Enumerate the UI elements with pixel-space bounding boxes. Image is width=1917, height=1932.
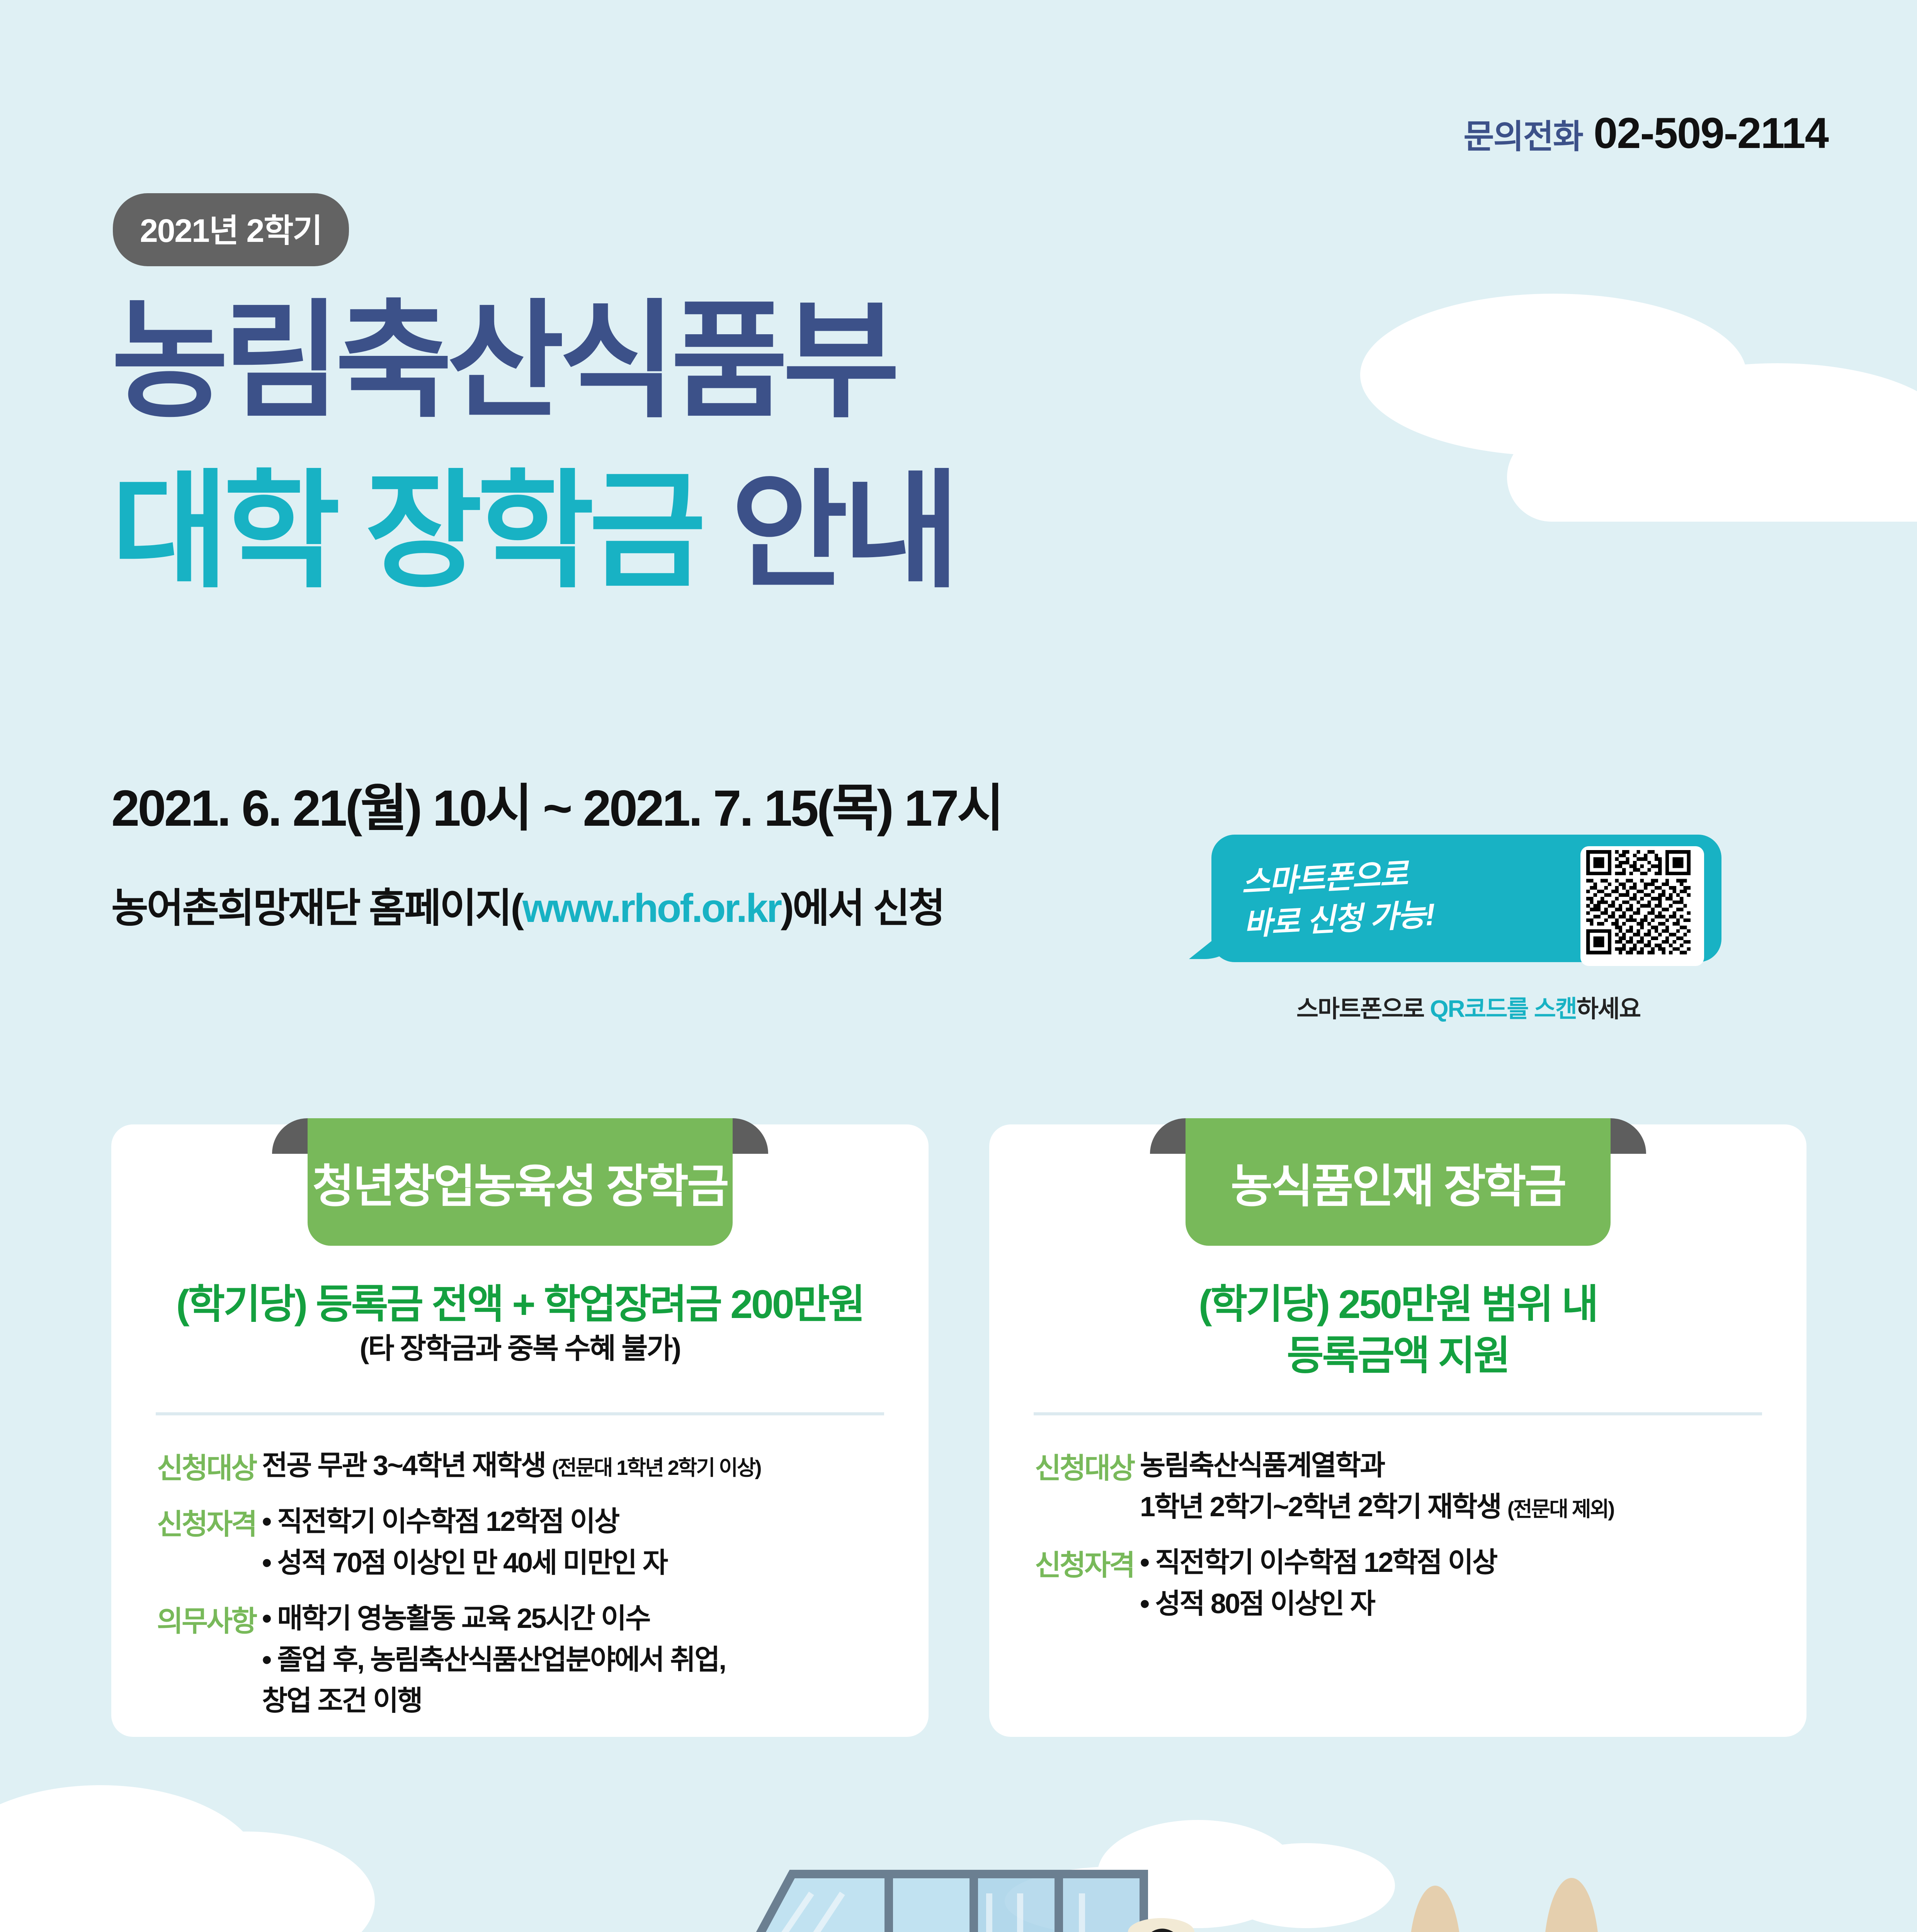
card-ribbon: 농식품인재 장학금 — [1186, 1118, 1611, 1246]
page-title-highlight: 대학 장학금 — [111, 460, 701, 602]
application-period: 2021. 6. 21(월) 10시 ~ 2021. 7. 15(목) 17시 — [111, 767, 1002, 841]
card-title: 청년창업농육성 장학금 — [312, 1149, 727, 1215]
detail-line: • 성적 70점 이상인 만 40세 미만인 자 — [262, 1543, 902, 1584]
detail-line: • 직전학기 이수학점 12학점 이상 — [262, 1501, 902, 1543]
detail-line: • 매학기 영농활동 교육 25시간 이수 — [262, 1598, 902, 1639]
detail-line: • 졸업 후, 농림축산식품산업분야에서 취업, — [262, 1639, 902, 1681]
qr-code[interactable] — [1580, 846, 1704, 966]
card-amount-line2: 등록금액 지원 — [989, 1330, 1806, 1382]
detail-line: • 성적 80점 이상인 자 — [1140, 1583, 1779, 1625]
detail-line: 농림축산식품계열학과 — [1140, 1445, 1779, 1486]
qr-note-suffix: 하세요 — [1577, 996, 1640, 1022]
detail-row: 신청대상 농림축산식품계열학과 1학년 2학기~2학년 2학기 재학생 (전문대… — [1035, 1445, 1779, 1527]
detail-body: 농림축산식품계열학과 1학년 2학기~2학년 2학기 재학생 (전문대 제외) — [1140, 1445, 1779, 1527]
cloud-icon — [1507, 433, 1917, 522]
application-site: 농어촌희망재단 홈페이지(www.rhof.or.kr)에서 신청 — [111, 875, 944, 934]
detail-label: 의무사항 — [157, 1598, 262, 1722]
page-title-rest: 안내 — [731, 460, 954, 602]
detail-row: 신청대상 전공 무관 3~4학년 재학생 (전문대 1학년 2학기 이상) — [157, 1445, 902, 1486]
qr-note-highlight: QR코드를 스캔 — [1430, 996, 1576, 1022]
detail-small: (전문대 제외) — [1507, 1498, 1614, 1521]
qr-code-icon — [1584, 850, 1692, 954]
card-ribbon: 청년창업농육성 장학금 — [308, 1118, 733, 1246]
card-detail-rows: 신청대상 농림축산식품계열학과 1학년 2학기~2학년 2학기 재학생 (전문대… — [1035, 1445, 1779, 1639]
scholarship-card-agrifood[interactable]: 농식품인재 장학금 (학기당) 250만원 범위 내 등록금액 지원 신청대상 … — [989, 1124, 1806, 1737]
detail-label: 신청자격 — [1035, 1542, 1140, 1624]
page-title-line1: 농림축산식품부 — [111, 298, 895, 425]
page-title-line2: 대학 장학금 안내 — [111, 468, 955, 595]
site-prefix: 농어촌희망재단 홈페이지( — [111, 886, 522, 931]
detail-line: • 직전학기 이수학점 12학점 이상 — [1140, 1542, 1779, 1583]
detail-row: 신청자격 • 직전학기 이수학점 12학점 이상 • 성적 70점 이상인 만 … — [157, 1501, 902, 1583]
detail-body: • 직전학기 이수학점 12학점 이상 • 성적 80점 이상인 자 — [1140, 1542, 1779, 1624]
card-amount: (학기당) 250만원 범위 내 등록금액 지원 — [989, 1279, 1806, 1382]
card-divider — [1034, 1412, 1762, 1415]
site-url-link[interactable]: www.rhof.or.kr — [522, 886, 781, 931]
semester-tag: 2021년 2학기 — [113, 193, 349, 266]
detail-small: (전문대 1학년 2학기 이상) — [552, 1456, 760, 1480]
site-suffix: )에서 신청 — [781, 886, 944, 931]
poster-root: 문의전화 02-509-2114 2021년 2학기 농림축산식품부 대학 장학… — [0, 0, 1917, 1932]
contact-label: 문의전화 — [1463, 118, 1582, 155]
qr-note-prefix: 스마트폰으로 — [1296, 996, 1430, 1022]
detail-row: 의무사항 • 매학기 영농활동 교육 25시간 이수 • 졸업 후, 농림축산식… — [157, 1598, 902, 1722]
contact-phone: 문의전화 02-509-2114 — [1463, 108, 1828, 158]
scholarship-card-youth[interactable]: 청년창업농육성 장학금 (학기당) 등록금 전액 + 학업장려금 200만원 (… — [111, 1124, 929, 1737]
qr-note: 스마트폰으로 QR코드를 스캔하세요 — [1217, 989, 1720, 1024]
contact-number: 02-509-2114 — [1594, 109, 1828, 157]
qr-bubble-text: 스마트폰으로 바로 신청 가능! — [1240, 846, 1550, 945]
card-subnote: (타 장학금과 중복 수혜 불가) — [111, 1325, 929, 1367]
detail-line2: 1학년 2학기~2학년 2학기 재학생 (전문대 제외) — [1140, 1486, 1779, 1528]
detail-body: 전공 무관 3~4학년 재학생 (전문대 1학년 2학기 이상) — [262, 1445, 902, 1486]
detail-body: • 매학기 영농활동 교육 25시간 이수 • 졸업 후, 농림축산식품산업분야… — [262, 1598, 902, 1722]
card-amount: (학기당) 등록금 전액 + 학업장려금 200만원 — [111, 1279, 929, 1330]
detail-body: • 직전학기 이수학점 12학점 이상 • 성적 70점 이상인 만 40세 미… — [262, 1501, 902, 1583]
detail-label: 신청대상 — [157, 1445, 262, 1486]
card-amount-line1: (학기당) 250만원 범위 내 — [989, 1279, 1806, 1330]
card-divider — [156, 1412, 884, 1415]
detail-line: 전공 무관 3~4학년 재학생 — [262, 1450, 545, 1481]
detail-line: 1학년 2학기~2학년 2학기 재학생 — [1140, 1492, 1501, 1522]
farm-illustration — [0, 1747, 1917, 1932]
card-title: 농식품인재 장학금 — [1231, 1149, 1565, 1215]
detail-label: 신청대상 — [1035, 1445, 1140, 1527]
detail-row: 신청자격 • 직전학기 이수학점 12학점 이상 • 성적 80점 이상인 자 — [1035, 1542, 1779, 1624]
detail-line: 창업 조건 이행 — [262, 1680, 902, 1722]
card-detail-rows: 신청대상 전공 무관 3~4학년 재학생 (전문대 1학년 2학기 이상) 신청… — [157, 1445, 902, 1736]
farm-scene-icon — [0, 1747, 1917, 1932]
detail-label: 신청자격 — [157, 1501, 262, 1583]
